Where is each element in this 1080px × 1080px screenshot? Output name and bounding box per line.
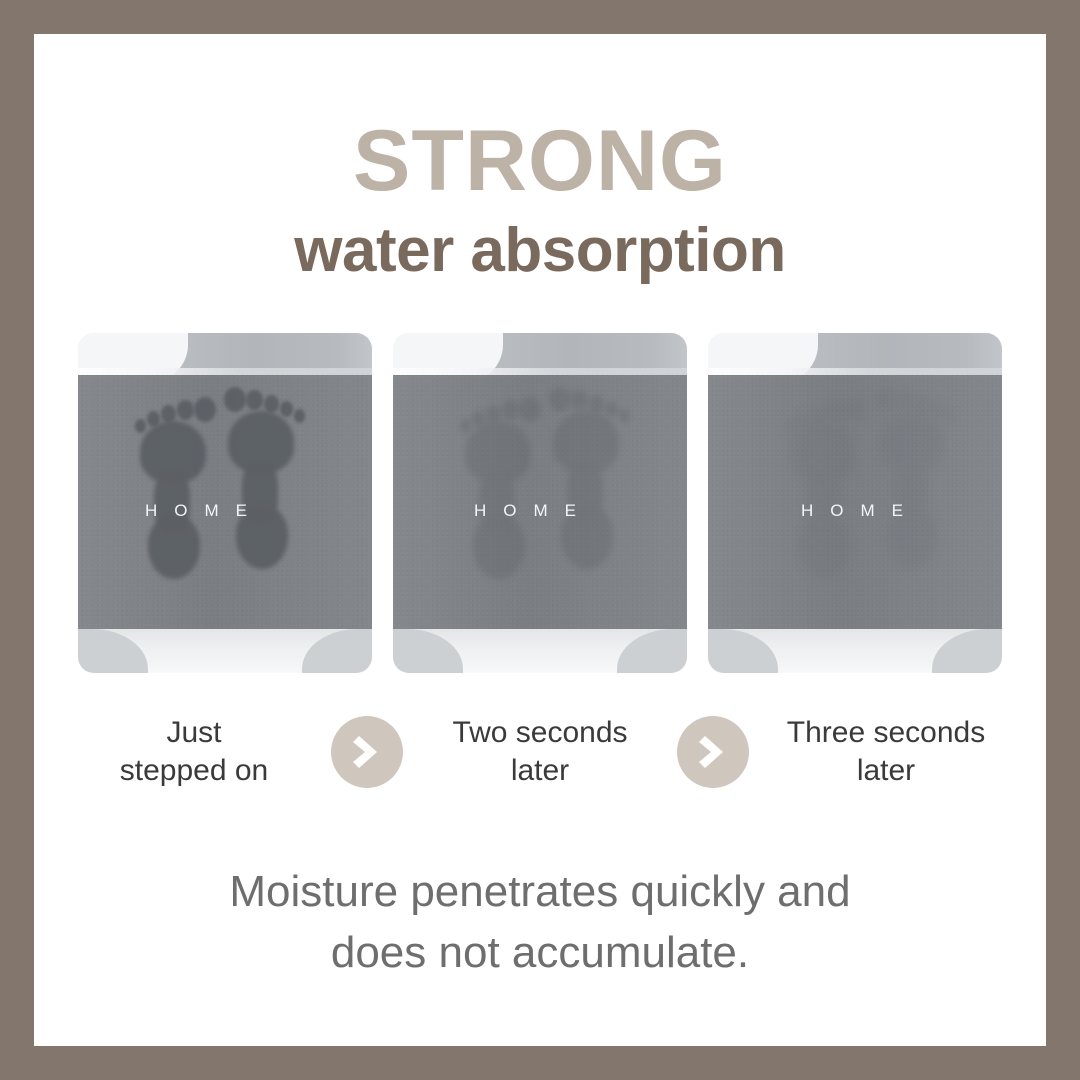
chevron-right-icon [677, 716, 749, 788]
product-infographic-card: STRONG water absorption [34, 34, 1046, 1046]
stage-caption-3: Three seconds later [770, 714, 1002, 791]
footprint-left [130, 391, 222, 581]
stage-caption-2-line2: later [424, 752, 656, 790]
bath-mat-photo-stage-3: HOME [708, 333, 1002, 673]
stage-caption-3-line2: later [770, 752, 1002, 790]
headline-primary: STRONG [34, 118, 1046, 204]
mat-logo-text: HOME [128, 501, 264, 521]
footprint-left [780, 391, 872, 581]
footer-tagline: Moisture penetrates quickly and does not… [90, 862, 990, 983]
footer-tagline-line2: does not accumulate. [90, 923, 990, 984]
mat-logo-text: HOME [784, 501, 920, 521]
footprint-right [218, 381, 310, 571]
stage-caption-3-line1: Three seconds [770, 714, 1002, 752]
mat-logo-text: HOME [457, 501, 593, 521]
stage-caption-2: Two seconds later [424, 714, 656, 791]
bath-mat-photo-stage-2: HOME [393, 333, 687, 673]
absorption-sequence-gallery: HOME HOME [78, 333, 1002, 673]
footprint-left [455, 391, 547, 581]
stage-caption-2-line1: Two seconds [424, 714, 656, 752]
stage-caption-1: Just stepped on [78, 714, 310, 791]
stage-caption-1-line1: Just [78, 714, 310, 752]
chevron-right-icon [331, 716, 403, 788]
bath-mat-photo-stage-1: HOME [78, 333, 372, 673]
stage-caption-row: Just stepped on Two seconds later Three … [78, 702, 1002, 802]
footer-tagline-line1: Moisture penetrates quickly and [90, 862, 990, 923]
headline-secondary: water absorption [34, 218, 1046, 283]
headline-block: STRONG water absorption [34, 34, 1046, 283]
footprint-right [868, 381, 960, 571]
stage-caption-1-line2: stepped on [78, 752, 310, 790]
footprint-right [543, 381, 635, 571]
